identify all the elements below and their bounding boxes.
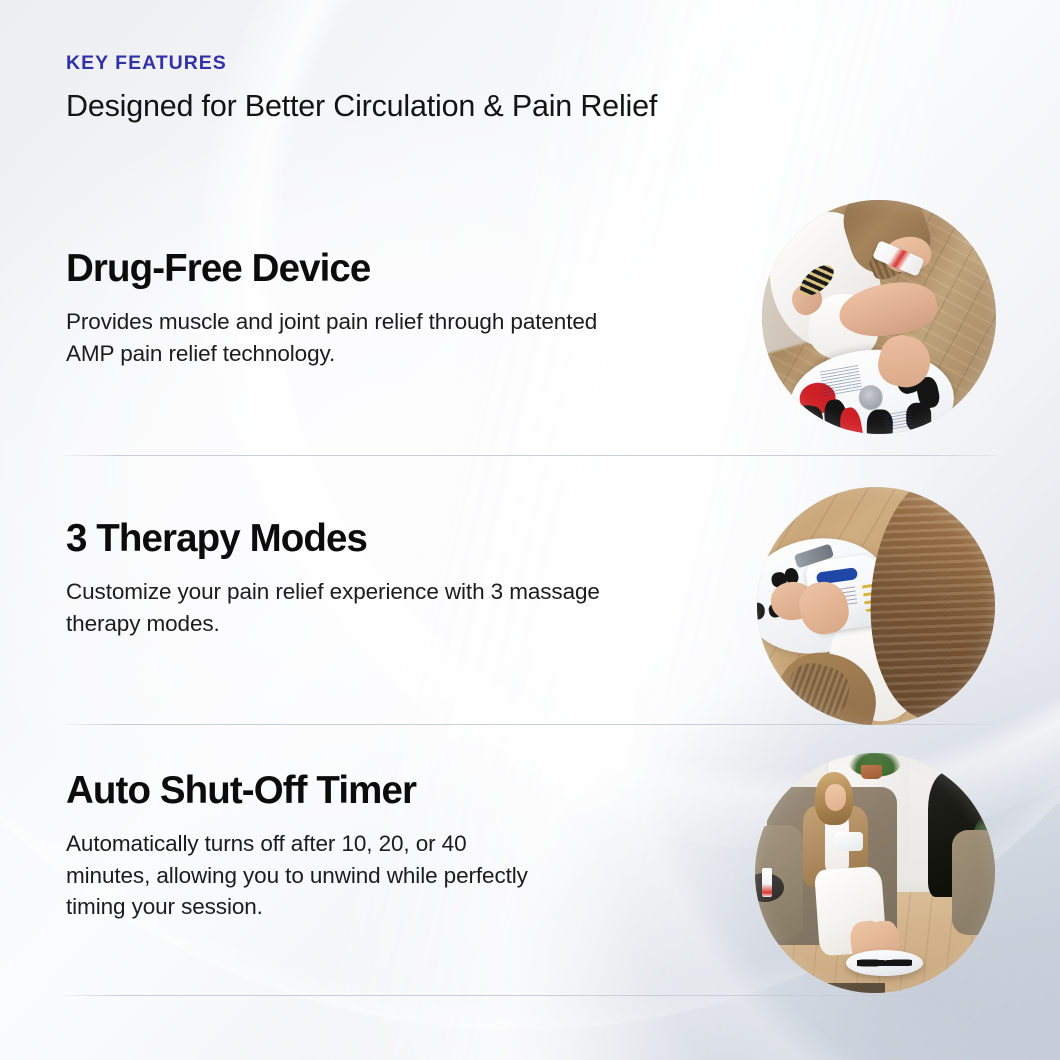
- device-label-text: [819, 365, 862, 396]
- header: KEY FEATURES Designed for Better Circula…: [66, 54, 657, 123]
- feature-item-auto-shut-off-timer: Auto Shut-Off Timer Automatically turns …: [66, 770, 766, 923]
- feature-description: Automatically turns off after 10, 20, or…: [66, 828, 546, 924]
- feature-description: Customize your pain relief experience wi…: [66, 576, 611, 640]
- photo-scene: [762, 200, 996, 434]
- divider-3: [63, 995, 997, 996]
- feature-title: Auto Shut-Off Timer: [66, 770, 766, 812]
- feature-description: Provides muscle and joint pain relief th…: [66, 306, 611, 370]
- photo-scene: [755, 753, 995, 993]
- key-features-infographic: KEY FEATURES Designed for Better Circula…: [0, 0, 1060, 1060]
- feature-photo-drug-free-device: [762, 200, 996, 434]
- photo-scene: [757, 487, 995, 725]
- page-title: Designed for Better Circulation & Pain R…: [66, 89, 657, 123]
- eyebrow-label: KEY FEATURES: [66, 54, 657, 74]
- feature-photo-auto-shut-off-timer: [755, 753, 995, 993]
- feature-photo-therapy-modes: [757, 487, 995, 725]
- feature-title: 3 Therapy Modes: [66, 518, 766, 560]
- device-pad: [757, 602, 765, 619]
- photo-vignette: [755, 753, 995, 993]
- feature-item-drug-free-device: Drug-Free Device Provides muscle and joi…: [66, 248, 766, 369]
- divider-1: [63, 455, 997, 456]
- feature-item-therapy-modes: 3 Therapy Modes Customize your pain reli…: [66, 518, 766, 639]
- feature-title: Drug-Free Device: [66, 248, 766, 290]
